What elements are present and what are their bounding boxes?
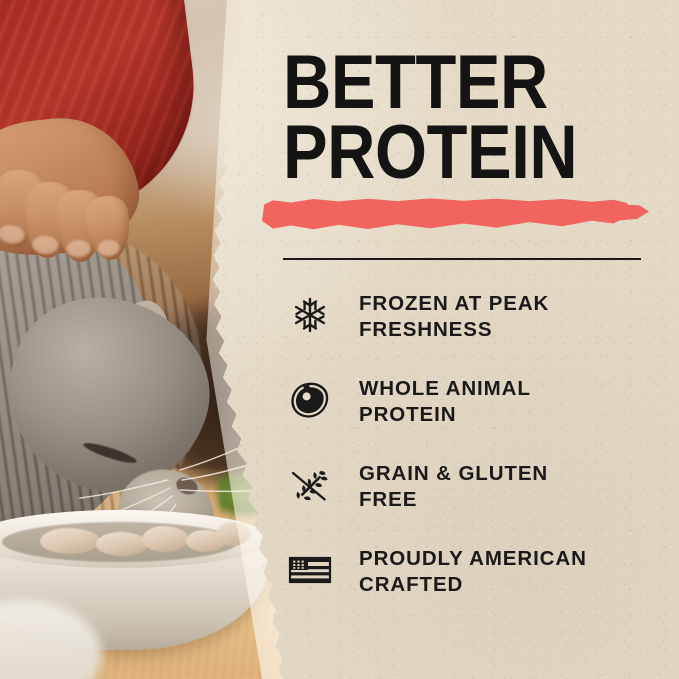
feature-item-frozen: FROZEN AT PEAK FRESHNESS (283, 286, 679, 371)
feature-item-grain-free: GRAIN & GLUTEN FREE (283, 456, 679, 541)
feature-label: FROZEN AT PEAK FRESHNESS (337, 286, 679, 343)
feature-item-american: PROUDLY AMERICAN CRAFTED (283, 541, 679, 626)
section-divider (283, 258, 641, 260)
wet-food-piece (216, 522, 250, 546)
wheat-slash-icon (283, 458, 337, 512)
headline-line-2: PROTEIN (283, 118, 609, 188)
content-column: BETTER PROTEIN (283, 0, 679, 679)
american-flag-icon (283, 543, 337, 597)
headline-brush-stroke-tail (613, 204, 649, 221)
steak-icon (283, 373, 337, 427)
feature-label: WHOLE ANIMAL PROTEIN (337, 371, 679, 428)
headline-line-1: BETTER (283, 48, 609, 118)
headline-brush-stroke (262, 197, 628, 231)
snowflake-icon (283, 288, 337, 342)
headline-block: BETTER PROTEIN (283, 48, 653, 188)
advertisement-banner: BETTER PROTEIN (0, 0, 679, 679)
feature-label: GRAIN & GLUTEN FREE (337, 456, 679, 513)
wet-food-piece (96, 532, 148, 556)
feature-item-protein: WHOLE ANIMAL PROTEIN (283, 371, 679, 456)
wet-food-piece (40, 528, 100, 554)
wet-food-piece (142, 526, 188, 552)
feature-label: PROUDLY AMERICAN CRAFTED (337, 541, 679, 598)
feature-list: FROZEN AT PEAK FRESHNESS WHOLE ANIMAL PR… (283, 286, 679, 626)
